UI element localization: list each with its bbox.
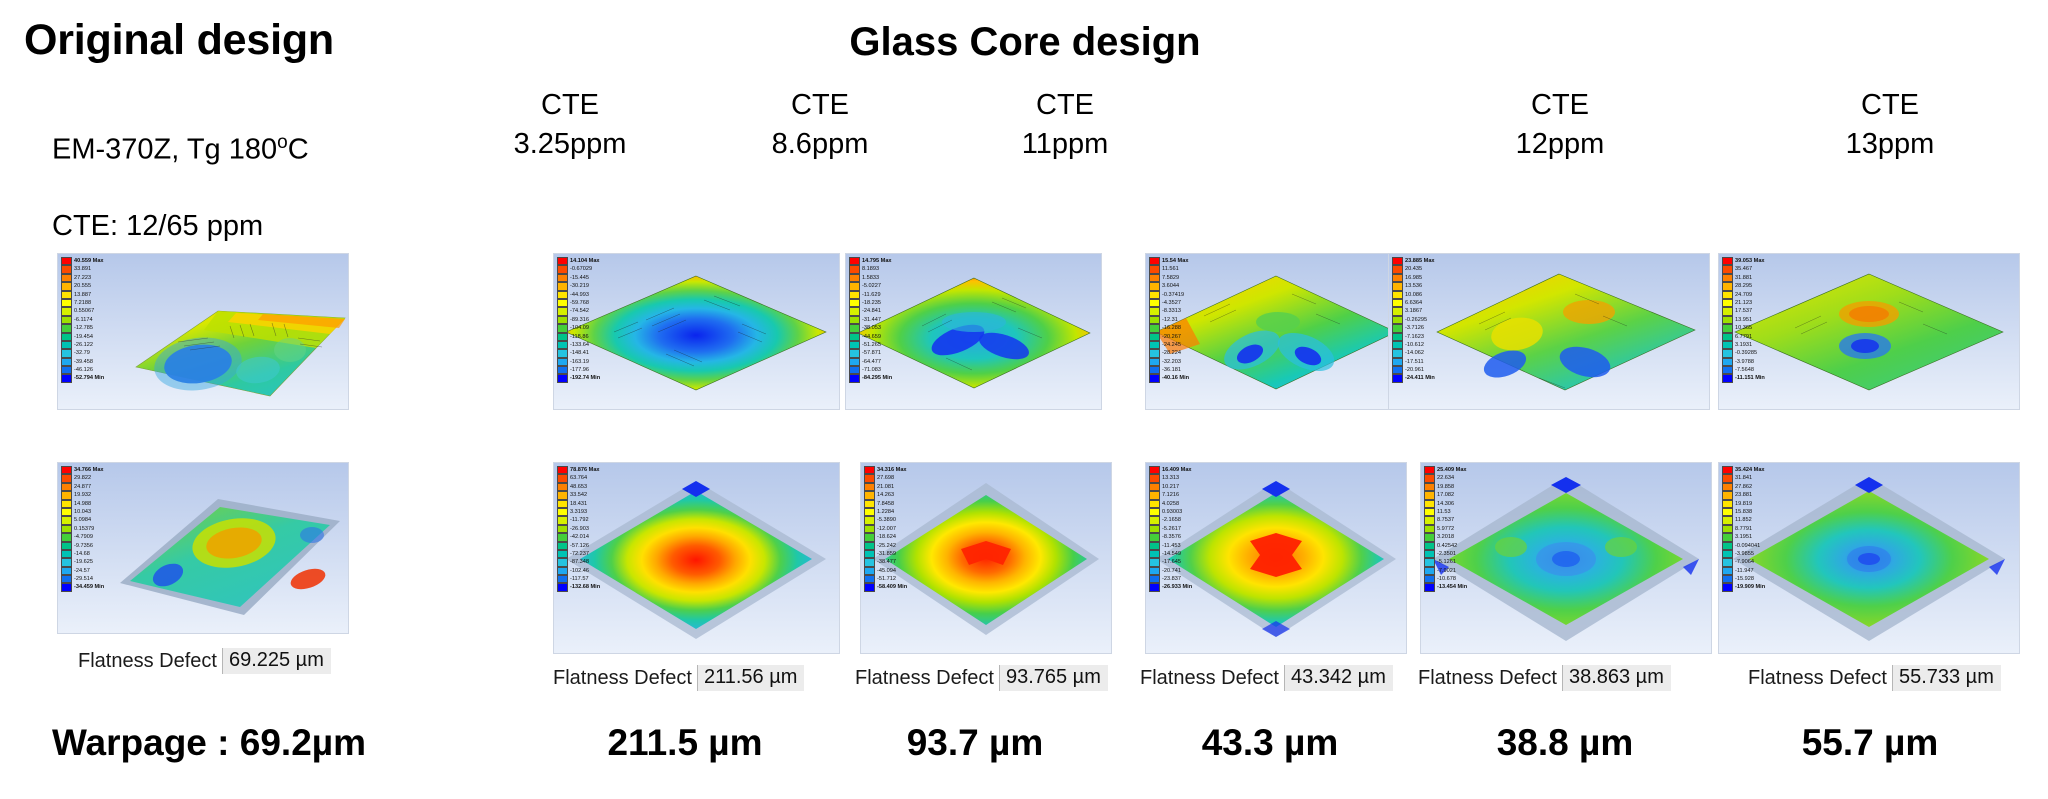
flatness-readout-cte8p6: Flatness Defect 93.765 µm <box>855 665 1108 691</box>
legend-tick: -0.094041 <box>1735 542 1765 550</box>
legend-tick: -3.9855 <box>1735 550 1765 558</box>
color-legend-cte12-bottom: 25.409 Max 22.634 19.858 17.082 14.306 1… <box>1424 466 1467 592</box>
legend-tick: 16.409 Max <box>1162 466 1192 474</box>
legend-tick: 27.223 <box>74 274 104 282</box>
legend-tick: 22.634 <box>1437 474 1467 482</box>
legend-tick: 17.537 <box>1735 307 1765 315</box>
legend-tick: -26.933 Min <box>1162 583 1192 591</box>
legend-tick: -4.7909 <box>74 533 104 541</box>
legend-tick: -3.9788 <box>1735 358 1765 366</box>
legend-tick: 7.5829 <box>1162 274 1189 282</box>
legend-tick: -5.0227 <box>862 282 892 290</box>
legend-tick: 6.6364 <box>1405 299 1435 307</box>
legend-tick: 29.822 <box>74 474 104 482</box>
legend-labels: 34.316 Max 27.698 21.081 14.263 7.8458 1… <box>877 466 907 592</box>
legend-tick: 23.885 Max <box>1405 257 1435 265</box>
legend-tick: -51.712 <box>877 575 907 583</box>
legend-tick: 19.858 <box>1437 483 1467 491</box>
legend-tick: -19.909 Min <box>1735 583 1765 591</box>
legend-tick: 34.766 Max <box>74 466 104 474</box>
flatness-value-1: 211.56 µm <box>697 665 804 691</box>
cte-label-4: CTE <box>1445 86 1675 125</box>
legend-tick: 16.985 <box>1405 274 1435 282</box>
legend-tick: -133.64 <box>570 341 600 349</box>
color-legend-cte3p25-bottom: 78.876 Max 63.764 48.653 33.542 18.431 3… <box>557 466 600 592</box>
flatness-value-3: 43.342 µm <box>1284 665 1393 691</box>
legend-tick: 20.435 <box>1405 265 1435 273</box>
legend-tick: -42.014 <box>570 533 600 541</box>
legend-tick: 14.263 <box>877 491 907 499</box>
cte-caption-8p6: CTE 8.6ppm <box>705 86 935 163</box>
legend-tick: -15.928 <box>1735 575 1765 583</box>
flatness-readout-original: Flatness Defect 69.225 µm <box>78 648 331 674</box>
color-legend-cte11-top: 15.54 Max 11.561 7.5829 3.6044 -0.37419 … <box>1149 257 1189 383</box>
legend-tick: -51.265 <box>862 341 892 349</box>
legend-swatches <box>557 466 568 592</box>
legend-tick: -23.837 <box>1162 575 1192 583</box>
legend-tick: 0.42542 <box>1437 542 1467 550</box>
contour-plot-cte13-top: 39.053 Max 35.467 31.881 28.295 24.709 2… <box>1718 253 2020 410</box>
flatness-value-0: 69.225 µm <box>222 648 331 674</box>
legend-tick: -71.083 <box>862 366 892 374</box>
legend-tick: 1.2284 <box>877 508 907 516</box>
legend-tick: -15.445 <box>570 274 600 282</box>
legend-tick: 27.862 <box>1735 483 1765 491</box>
original-material-line2: CTE: 12/65 ppm <box>52 210 263 242</box>
cte-label-2: CTE <box>705 86 935 125</box>
legend-tick: -20.741 <box>1162 567 1192 575</box>
legend-tick: 14.306 <box>1437 500 1467 508</box>
legend-tick: -10.678 <box>1437 575 1467 583</box>
cte-value-1: 3.25ppm <box>455 125 685 164</box>
legend-swatches <box>1722 257 1733 383</box>
legend-tick: -14.062 <box>1405 349 1435 357</box>
legend-tick: -87.348 <box>570 558 600 566</box>
flatness-label-4: Flatness Defect <box>1418 667 1562 690</box>
legend-tick: 21.123 <box>1735 299 1765 307</box>
flatness-readout-cte13: Flatness Defect 55.733 µm <box>1748 665 2001 691</box>
legend-tick: -0.37419 <box>1162 291 1189 299</box>
legend-tick: -29.514 <box>74 575 104 583</box>
legend-tick: 15.54 Max <box>1162 257 1189 265</box>
legend-tick: -26.903 <box>570 525 600 533</box>
legend-tick: -44.993 <box>570 291 600 299</box>
legend-tick: -18.235 <box>862 299 892 307</box>
legend-tick: 33.891 <box>74 265 104 273</box>
legend-tick: -31.447 <box>862 316 892 324</box>
legend-tick: -8.3313 <box>1162 307 1189 315</box>
legend-labels: 39.053 Max 35.467 31.881 28.295 24.709 2… <box>1735 257 1765 383</box>
flatness-value-4: 38.863 µm <box>1562 665 1671 691</box>
legend-tick: -57.126 <box>570 542 600 550</box>
legend-tick: -102.46 <box>570 567 600 575</box>
legend-tick: -24.841 <box>862 307 892 315</box>
legend-tick: 7.1216 <box>1162 491 1192 499</box>
legend-tick: 25.409 Max <box>1437 466 1467 474</box>
legend-tick: -17.511 <box>1405 358 1435 366</box>
legend-tick: -72.237 <box>570 550 600 558</box>
color-legend-original-bottom: 34.766 Max 29.822 24.877 19.932 14.988 1… <box>61 466 104 592</box>
warpage-cte11: 43.3 µm <box>1135 722 1405 764</box>
legend-tick: 0.15379 <box>74 525 104 533</box>
legend-tick: 8.7791 <box>1735 525 1765 533</box>
legend-tick: -7.5648 <box>1735 366 1765 374</box>
legend-tick: 3.2018 <box>1437 533 1467 541</box>
cte-value-2: 8.6ppm <box>705 125 935 164</box>
legend-tick: -34.459 Min <box>74 583 104 591</box>
original-material-line1-end: C <box>288 134 309 166</box>
cte-value-3: 11ppm <box>950 125 1180 164</box>
cte-caption-11: CTE 11ppm <box>950 86 1180 163</box>
cte-caption-3p25: CTE 3.25ppm <box>455 86 685 163</box>
legend-tick: -16.288 <box>1162 324 1189 332</box>
legend-tick: -45.094 <box>877 567 907 575</box>
legend-tick: 10.086 <box>1405 291 1435 299</box>
legend-swatches <box>864 466 875 592</box>
legend-swatches <box>1149 466 1160 592</box>
legend-tick: -6.1174 <box>74 316 104 324</box>
legend-tick: 24.709 <box>1735 291 1765 299</box>
warpage-surface-cte12-top <box>1389 254 1709 409</box>
legend-tick: -24.411 Min <box>1405 374 1435 382</box>
legend-tick: 3.1931 <box>1735 341 1765 349</box>
legend-labels: 25.409 Max 22.634 19.858 17.082 14.306 1… <box>1437 466 1467 592</box>
flatness-label-5: Flatness Defect <box>1748 667 1892 690</box>
legend-tick: -59.768 <box>570 299 600 307</box>
legend-swatches <box>557 257 568 383</box>
flatness-value-2: 93.765 µm <box>999 665 1108 691</box>
legend-tick: 8.7537 <box>1437 516 1467 524</box>
flatness-label-2: Flatness Defect <box>855 667 999 690</box>
legend-tick: -104.09 <box>570 324 600 332</box>
contour-plot-cte13-bottom: 35.424 Max 31.841 27.862 23.881 19.819 1… <box>1718 462 2020 654</box>
legend-tick: -40.16 Min <box>1162 374 1189 382</box>
legend-tick: -3.7126 <box>1405 324 1435 332</box>
legend-tick: 28.295 <box>1735 282 1765 290</box>
contour-plot-original-bottom: 34.766 Max 29.822 24.877 19.932 14.988 1… <box>57 462 349 634</box>
legend-tick: 5.0984 <box>74 516 104 524</box>
legend-tick: 23.881 <box>1735 491 1765 499</box>
legend-tick: -20.267 <box>1162 333 1189 341</box>
legend-tick: -0.26295 <box>1405 316 1435 324</box>
legend-tick: -118.86 <box>570 333 600 341</box>
legend-tick: 33.542 <box>570 491 600 499</box>
legend-tick: 8.1893 <box>862 265 892 273</box>
legend-labels: 16.409 Max 13.313 10.217 7.1216 4.0258 0… <box>1162 466 1192 592</box>
legend-tick: 7.8458 <box>877 500 907 508</box>
legend-tick: 24.877 <box>74 483 104 491</box>
legend-swatches <box>61 466 72 592</box>
contour-plot-cte12-bottom: 25.409 Max 22.634 19.858 17.082 14.306 1… <box>1420 462 1712 654</box>
legend-tick: -11.629 <box>862 291 892 299</box>
legend-tick: 13.536 <box>1405 282 1435 290</box>
legend-tick: -0.67029 <box>570 265 600 273</box>
legend-tick: 13.887 <box>74 291 104 299</box>
legend-tick: -11.792 <box>570 516 600 524</box>
legend-labels: 34.766 Max 29.822 24.877 19.932 14.988 1… <box>74 466 104 592</box>
legend-tick: -64.477 <box>862 358 892 366</box>
heading-glass-core-design: Glass Core design <box>740 20 1310 65</box>
legend-tick: 35.424 Max <box>1735 466 1765 474</box>
legend-swatches <box>1424 466 1435 592</box>
original-material-spec: EM-370Z, Tg 180oC CTE: 12/65 ppm <box>52 92 309 246</box>
legend-tick: 7.2188 <box>74 299 104 307</box>
color-legend-cte8p6-top: 14.795 Max 8.1893 1.5833 -5.0227 -11.629… <box>849 257 892 383</box>
legend-tick: 11.561 <box>1162 265 1189 273</box>
flatness-readout-cte11: Flatness Defect 43.342 µm <box>1140 665 1393 691</box>
legend-tick: -5.3890 <box>877 516 907 524</box>
legend-tick: -5.2617 <box>1162 525 1192 533</box>
legend-tick: 14.988 <box>74 500 104 508</box>
legend-tick: -32.79 <box>74 349 104 357</box>
legend-tick: 11.852 <box>1735 516 1765 524</box>
flatness-label-1: Flatness Defect <box>553 667 697 690</box>
legend-tick: 31.881 <box>1735 274 1765 282</box>
legend-tick: 17.082 <box>1437 491 1467 499</box>
legend-tick: -84.295 Min <box>862 374 892 382</box>
legend-swatches <box>61 257 72 383</box>
contour-plot-cte3p25-top: 14.104 Max -0.67029 -15.445 -30.219 -44.… <box>553 253 840 410</box>
legend-tick: -7.9064 <box>1735 558 1765 566</box>
legend-tick: -11.453 <box>1162 542 1192 550</box>
legend-swatches <box>1392 257 1403 383</box>
color-legend-cte3p25-top: 14.104 Max -0.67029 -15.445 -30.219 -44.… <box>557 257 600 383</box>
legend-tick: -12.007 <box>877 525 907 533</box>
legend-labels: 35.424 Max 31.841 27.862 23.881 19.819 1… <box>1735 466 1765 592</box>
legend-tick: -10.612 <box>1405 341 1435 349</box>
legend-labels: 78.876 Max 63.764 48.653 33.542 18.431 3… <box>570 466 600 592</box>
legend-tick: 27.698 <box>877 474 907 482</box>
legend-tick: 35.467 <box>1735 265 1765 273</box>
legend-tick: 78.876 Max <box>570 466 600 474</box>
color-legend-cte13-bottom: 35.424 Max 31.841 27.862 23.881 19.819 1… <box>1722 466 1765 592</box>
legend-tick: -30.219 <box>570 282 600 290</box>
cte-caption-12: CTE 12ppm <box>1445 86 1675 163</box>
legend-tick: -32.203 <box>1162 358 1189 366</box>
legend-swatches <box>1722 466 1733 592</box>
contour-plot-original-top: 40.559 Max 33.891 27.223 20.555 13.887 7… <box>57 253 349 410</box>
legend-tick: -12.31 <box>1162 316 1189 324</box>
legend-tick: 14.795 Max <box>862 257 892 265</box>
legend-tick: 18.431 <box>570 500 600 508</box>
legend-tick: -2.3501 <box>1437 550 1467 558</box>
flatness-value-5: 55.733 µm <box>1892 665 2001 691</box>
legend-tick: 10.217 <box>1162 483 1192 491</box>
legend-tick: -11.947 <box>1735 567 1765 575</box>
legend-tick: -117.57 <box>570 575 600 583</box>
warpage-cte3p25: 211.5 µm <box>540 722 830 764</box>
legend-tick: -5.1261 <box>1437 558 1467 566</box>
legend-tick: -26.122 <box>74 341 104 349</box>
legend-tick: 1.5833 <box>862 274 892 282</box>
legend-tick: -38.477 <box>877 558 907 566</box>
contour-plot-cte8p6-bottom: 34.316 Max 27.698 21.081 14.263 7.8458 1… <box>860 462 1112 654</box>
legend-tick: 10.043 <box>74 508 104 516</box>
legend-tick: -89.316 <box>570 316 600 324</box>
legend-tick: -31.859 <box>877 550 907 558</box>
legend-tick: 6.7791 <box>1735 333 1765 341</box>
cte-value-5: 13ppm <box>1775 125 2005 164</box>
legend-tick: 5.9772 <box>1437 525 1467 533</box>
legend-tick: -7.9021 <box>1437 567 1467 575</box>
legend-tick: 14.104 Max <box>570 257 600 265</box>
legend-labels: 14.795 Max 8.1893 1.5833 -5.0227 -11.629… <box>862 257 892 383</box>
legend-tick: 19.932 <box>74 491 104 499</box>
legend-tick: -14.68 <box>74 550 104 558</box>
legend-tick: 19.819 <box>1735 500 1765 508</box>
legend-tick: -24.57 <box>74 567 104 575</box>
legend-tick: -17.645 <box>1162 558 1192 566</box>
heading-original-design: Original design <box>24 16 334 65</box>
legend-tick: 15.838 <box>1735 508 1765 516</box>
legend-tick: 3.1951 <box>1735 533 1765 541</box>
legend-tick: -12.785 <box>74 324 104 332</box>
degree-superscript: o <box>277 132 288 153</box>
legend-tick: -192.74 Min <box>570 374 600 382</box>
cte-label-1: CTE <box>455 86 685 125</box>
legend-tick: -57.871 <box>862 349 892 357</box>
legend-tick: 34.316 Max <box>877 466 907 474</box>
legend-tick: -44.659 <box>862 333 892 341</box>
legend-tick: 40.559 Max <box>74 257 104 265</box>
legend-tick: -9.7356 <box>74 542 104 550</box>
legend-tick: -46.126 <box>74 366 104 374</box>
legend-tick: -38.053 <box>862 324 892 332</box>
legend-labels: 23.885 Max 20.435 16.985 13.536 10.086 6… <box>1405 257 1435 383</box>
legend-labels: 15.54 Max 11.561 7.5829 3.6044 -0.37419 … <box>1162 257 1189 383</box>
legend-tick: -163.19 <box>570 358 600 366</box>
legend-tick: -148.41 <box>570 349 600 357</box>
legend-tick: 4.0258 <box>1162 500 1192 508</box>
legend-tick: -74.542 <box>570 307 600 315</box>
legend-tick: -0.39285 <box>1735 349 1765 357</box>
legend-swatches <box>1149 257 1160 383</box>
legend-labels: 14.104 Max -0.67029 -15.445 -30.219 -44.… <box>570 257 600 383</box>
color-legend-cte8p6-bottom: 34.316 Max 27.698 21.081 14.263 7.8458 1… <box>864 466 907 592</box>
color-legend-cte13-top: 39.053 Max 35.467 31.881 28.295 24.709 2… <box>1722 257 1765 383</box>
legend-swatches <box>849 257 860 383</box>
cte-label-5: CTE <box>1775 86 2005 125</box>
legend-tick: -11.151 Min <box>1735 374 1765 382</box>
flatness-readout-cte12: Flatness Defect 38.863 µm <box>1418 665 1671 691</box>
color-legend-cte12-top: 23.885 Max 20.435 16.985 13.536 10.086 6… <box>1392 257 1435 383</box>
legend-labels: 40.559 Max 33.891 27.223 20.555 13.887 7… <box>74 257 104 383</box>
legend-tick: 20.555 <box>74 282 104 290</box>
legend-tick: 39.053 Max <box>1735 257 1765 265</box>
warpage-original: Warpage : 69.2µm <box>44 722 374 764</box>
legend-tick: 0.55067 <box>74 307 104 315</box>
flatness-label-3: Flatness Defect <box>1140 667 1284 690</box>
legend-tick: -24.245 <box>1162 341 1189 349</box>
legend-tick: 31.841 <box>1735 474 1765 482</box>
legend-tick: 63.764 <box>570 474 600 482</box>
slide-canvas: Original design Glass Core design EM-370… <box>0 0 2048 799</box>
legend-tick: 3.6044 <box>1162 282 1189 290</box>
legend-tick: -132.68 Min <box>570 583 600 591</box>
legend-tick: 3.1867 <box>1405 307 1435 315</box>
legend-tick: -14.549 <box>1162 550 1192 558</box>
legend-tick: -7.1623 <box>1405 333 1435 341</box>
contour-plot-cte8p6-top: 14.795 Max 8.1893 1.5833 -5.0227 -11.629… <box>845 253 1102 410</box>
legend-tick: 11.53 <box>1437 508 1467 516</box>
legend-tick: -13.454 Min <box>1437 583 1467 591</box>
warpage-cte8p6: 93.7 µm <box>840 722 1110 764</box>
legend-tick: 10.365 <box>1735 324 1765 332</box>
legend-tick: 13.313 <box>1162 474 1192 482</box>
contour-plot-cte12-top: 23.885 Max 20.435 16.985 13.536 10.086 6… <box>1388 253 1710 410</box>
legend-tick: -177.96 <box>570 366 600 374</box>
flatness-label-0: Flatness Defect <box>78 650 222 673</box>
legend-tick: -2.1658 <box>1162 516 1192 524</box>
color-legend-cte11-bottom: 16.409 Max 13.313 10.217 7.1216 4.0258 0… <box>1149 466 1192 592</box>
legend-tick: -58.409 Min <box>877 583 907 591</box>
cte-value-4: 12ppm <box>1445 125 1675 164</box>
original-material-line1: EM-370Z, Tg 180 <box>52 134 277 166</box>
warpage-cte12: 38.8 µm <box>1420 722 1710 764</box>
contour-plot-cte3p25-bottom: 78.876 Max 63.764 48.653 33.542 18.431 3… <box>553 462 840 654</box>
legend-tick: -28.224 <box>1162 349 1189 357</box>
legend-tick: 13.951 <box>1735 316 1765 324</box>
contour-plot-cte11-bottom: 16.409 Max 13.313 10.217 7.1216 4.0258 0… <box>1145 462 1407 654</box>
legend-tick: -18.624 <box>877 533 907 541</box>
contour-plot-cte11-top: 15.54 Max 11.561 7.5829 3.6044 -0.37419 … <box>1145 253 1407 410</box>
legend-tick: -25.242 <box>877 542 907 550</box>
legend-tick: -20.961 <box>1405 366 1435 374</box>
legend-tick: -4.3527 <box>1162 299 1189 307</box>
flatness-readout-cte3p25: Flatness Defect 211.56 µm <box>553 665 804 691</box>
legend-tick: 3.3193 <box>570 508 600 516</box>
legend-tick: 21.081 <box>877 483 907 491</box>
legend-tick: -19.454 <box>74 333 104 341</box>
legend-tick: -52.794 Min <box>74 374 104 382</box>
warpage-cte13: 55.7 µm <box>1725 722 2015 764</box>
legend-tick: -19.625 <box>74 558 104 566</box>
legend-tick: 48.653 <box>570 483 600 491</box>
color-legend-original-top: 40.559 Max 33.891 27.223 20.555 13.887 7… <box>61 257 104 383</box>
legend-tick: -8.3576 <box>1162 533 1192 541</box>
cte-caption-13: CTE 13ppm <box>1775 86 2005 163</box>
legend-tick: 0.93003 <box>1162 508 1192 516</box>
legend-tick: -39.458 <box>74 358 104 366</box>
cte-label-3: CTE <box>950 86 1180 125</box>
legend-tick: -36.181 <box>1162 366 1189 374</box>
